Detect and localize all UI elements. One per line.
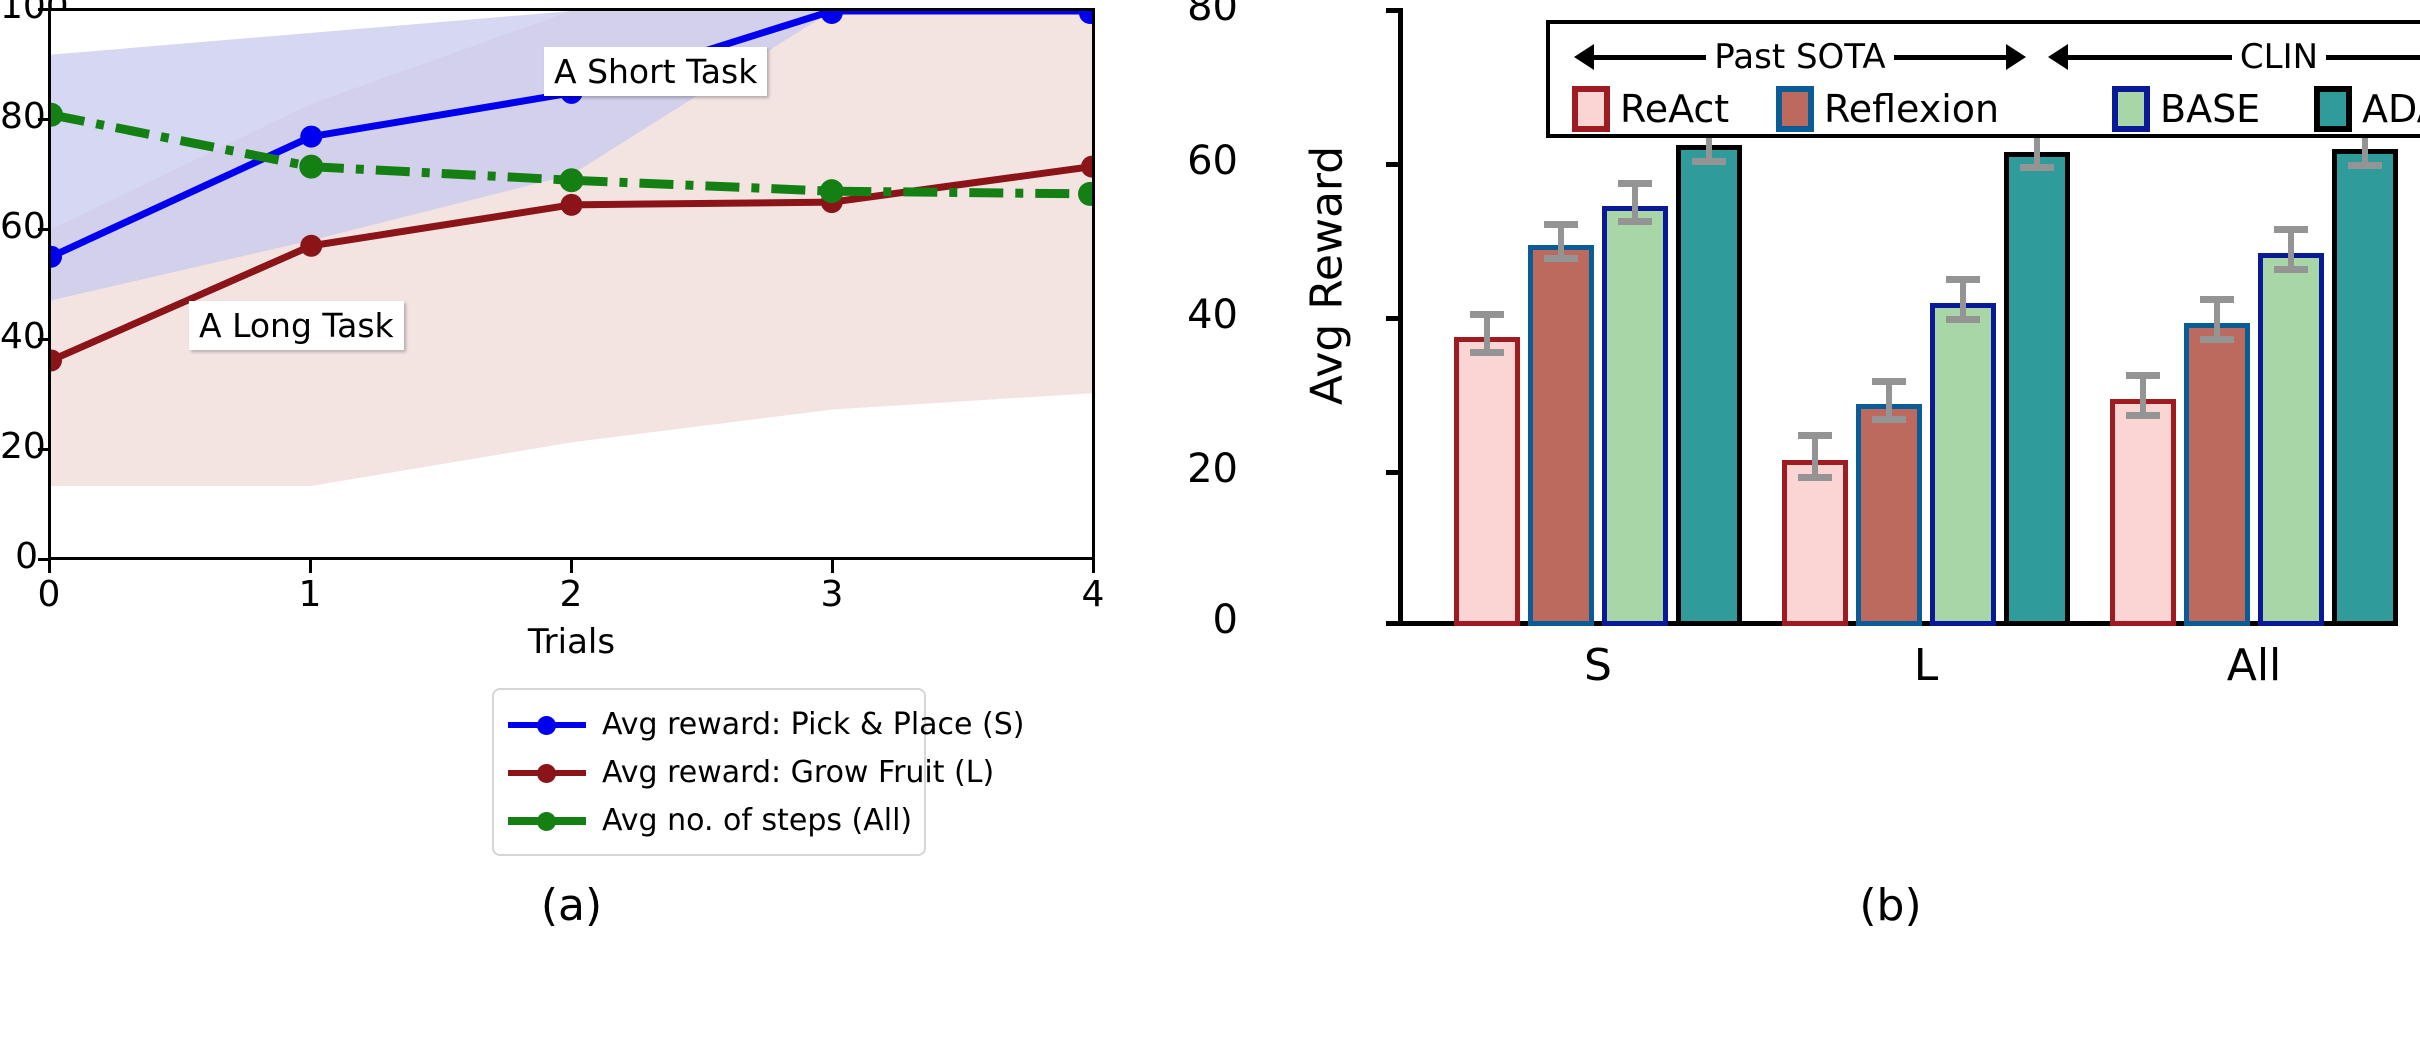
errorbar-cap — [1946, 316, 1980, 323]
marker-pick-place — [300, 126, 322, 148]
panel-b-xtick-l: L — [1826, 640, 2026, 691]
bar-all-base[interactable] — [2258, 253, 2324, 626]
legend-item-base[interactable]: BASE — [2112, 82, 2260, 136]
legend-swatch-reflexion-icon — [1776, 86, 1814, 132]
legend-swatch-adapt-icon — [2314, 86, 2352, 132]
legend-swatch-line-icon — [508, 713, 586, 735]
errorbar-cap — [1798, 432, 1832, 439]
panel-b-ytick-20: 20 — [1187, 446, 1238, 492]
panel-b-plot-area: Past SOTA CLIN ReAct — [1398, 10, 2383, 626]
errorbar-cap — [1618, 180, 1652, 187]
arrow-shaft — [1894, 55, 2006, 60]
panel-b-xtick-s: S — [1498, 640, 1698, 691]
panel-a-xtick-1: 1 — [289, 574, 331, 615]
bar-all-adapt[interactable] — [2332, 149, 2398, 626]
legend-key-row: ReAct Reflexion BASE ADAPT — [1550, 82, 2420, 136]
errorbar-cap — [2200, 296, 2234, 303]
legend-label: BASE — [2160, 87, 2260, 131]
marker-avg-steps — [820, 179, 844, 203]
marker-avg-steps — [560, 168, 584, 192]
legend-item-react[interactable]: ReAct — [1572, 82, 1729, 136]
annotation-short-task: A Short Task — [544, 47, 767, 96]
marker-grow-fruit — [561, 194, 583, 216]
bar-all-react[interactable] — [2110, 399, 2176, 626]
bar-l-reflexion[interactable] — [1856, 404, 1922, 626]
bar-s-react[interactable] — [1454, 337, 1520, 626]
errorbar-cap — [1618, 218, 1652, 225]
legend-label: Avg no. of steps (All) — [602, 803, 912, 838]
legend-label: ReAct — [1620, 87, 1729, 131]
marker-avg-steps — [299, 155, 323, 179]
panel-a-xtick-3: 3 — [811, 574, 853, 615]
errorbar-cap — [2126, 412, 2160, 419]
panel-b-caption: (b) — [1398, 880, 2383, 931]
errorbar-cap — [1946, 276, 1980, 283]
arrow-right-icon — [2006, 44, 2026, 70]
errorbar-cap — [2020, 164, 2054, 171]
legend-item-adapt[interactable]: ADAPT — [2314, 82, 2420, 136]
legend-group-row: Past SOTA CLIN — [1550, 34, 2420, 80]
legend-item-pick-place[interactable]: Avg reward: Pick & Place (S) — [508, 700, 910, 748]
legend-group-label: CLIN — [2232, 37, 2326, 77]
panel-a-ytick-80: 80 — [0, 96, 38, 137]
errorbar-cap — [2274, 226, 2308, 233]
panel-a-xtick-mark — [831, 560, 834, 573]
errorbar-cap — [2348, 162, 2382, 169]
errorbar-cap — [1872, 378, 1906, 385]
legend-item-reflexion[interactable]: Reflexion — [1776, 82, 1999, 136]
panel-b-yaxis-label: Avg Reward — [1302, 111, 1353, 441]
panel-a-xtick-mark — [309, 560, 312, 573]
arrow-left-icon — [2048, 44, 2068, 70]
legend-swatch-base-icon — [2112, 86, 2150, 132]
panel-a-legend[interactable]: Avg reward: Pick & Place (S) Avg reward:… — [492, 688, 926, 856]
panel-a-ytick-40: 40 — [0, 316, 38, 357]
errorbar-cap — [1872, 416, 1906, 423]
bar-l-base[interactable] — [1930, 303, 1996, 626]
panel-a-xtick-4: 4 — [1072, 574, 1114, 615]
legend-swatch-line-icon — [508, 809, 586, 831]
errorbar-cap — [2274, 266, 2308, 273]
legend-label: Reflexion — [1824, 87, 1999, 131]
errorbar-cap — [1470, 311, 1504, 318]
bar-all-reflexion[interactable] — [2184, 323, 2250, 626]
bar-s-base[interactable] — [1602, 206, 1668, 626]
legend-group-clin: CLIN — [2048, 34, 2420, 80]
errorbar-cap — [2126, 372, 2160, 379]
panel-b-ytick-40: 40 — [1187, 292, 1238, 338]
panel-a-ytick-20: 20 — [0, 426, 38, 467]
legend-label: ADAPT — [2362, 87, 2420, 131]
marker-grow-fruit — [300, 235, 322, 257]
errorbar-cap — [1470, 349, 1504, 356]
panel-b-ytick-80: 80 — [1187, 0, 1238, 30]
panel-a-ytick-100: 100 — [0, 0, 38, 27]
panel-b-legend[interactable]: Past SOTA CLIN ReAct — [1546, 20, 2420, 138]
errorbar-cap — [1544, 255, 1578, 262]
arrow-left-icon — [1574, 44, 1594, 70]
panel-b-ytick-0: 0 — [1213, 597, 1238, 643]
panel-b-ytick-60: 60 — [1187, 138, 1238, 184]
legend-label: Avg reward: Pick & Place (S) — [602, 707, 1025, 742]
errorbar-cap — [2200, 336, 2234, 343]
figure-root: 100 80 60 40 20 0 — [0, 0, 2420, 1040]
panel-a-caption: (a) — [48, 880, 1095, 931]
bar-l-react[interactable] — [1782, 460, 1848, 626]
bar-s-reflexion[interactable] — [1528, 245, 1594, 626]
legend-item-grow-fruit[interactable]: Avg reward: Grow Fruit (L) — [508, 748, 910, 796]
arrow-shaft — [2326, 55, 2420, 60]
arrow-shaft — [2068, 55, 2232, 60]
legend-item-avg-steps[interactable]: Avg no. of steps (All) — [508, 796, 910, 844]
arrow-shaft — [1594, 55, 1706, 60]
panel-a-xtick-mark — [1092, 560, 1095, 573]
legend-label: Avg reward: Grow Fruit (L) — [602, 755, 994, 790]
panel-a-xtick-2: 2 — [550, 574, 592, 615]
panel-a-xaxis-label: Trials — [48, 622, 1095, 662]
legend-swatch-react-icon — [1572, 86, 1610, 132]
panel-a-plot-area: A Short Task A Long Task — [48, 8, 1095, 560]
panel-b-bar-chart: 80 60 40 20 0 Avg Reward — [1250, 0, 2420, 1040]
legend-swatch-line-icon — [508, 761, 586, 783]
panel-a-xtick-mark — [48, 560, 51, 573]
legend-group-label: Past SOTA — [1706, 37, 1893, 77]
panel-a-xtick-0: 0 — [28, 574, 70, 615]
errorbar-cap — [1544, 221, 1578, 228]
errorbar-cap — [1692, 158, 1726, 165]
panel-a-ytick-0: 0 — [0, 536, 38, 577]
errorbar-cap — [1798, 474, 1832, 481]
bar-l-adapt[interactable] — [2004, 152, 2070, 626]
panel-a-ytick-60: 60 — [0, 206, 38, 247]
panel-a-line-chart: 100 80 60 40 20 0 — [0, 0, 1250, 1040]
panel-b-xtick-all: All — [2154, 640, 2354, 691]
panel-a-xtick-mark — [570, 560, 573, 573]
annotation-long-task: A Long Task — [189, 301, 404, 350]
legend-group-past-sota: Past SOTA — [1574, 34, 2026, 80]
bar-s-adapt[interactable] — [1676, 145, 1742, 626]
